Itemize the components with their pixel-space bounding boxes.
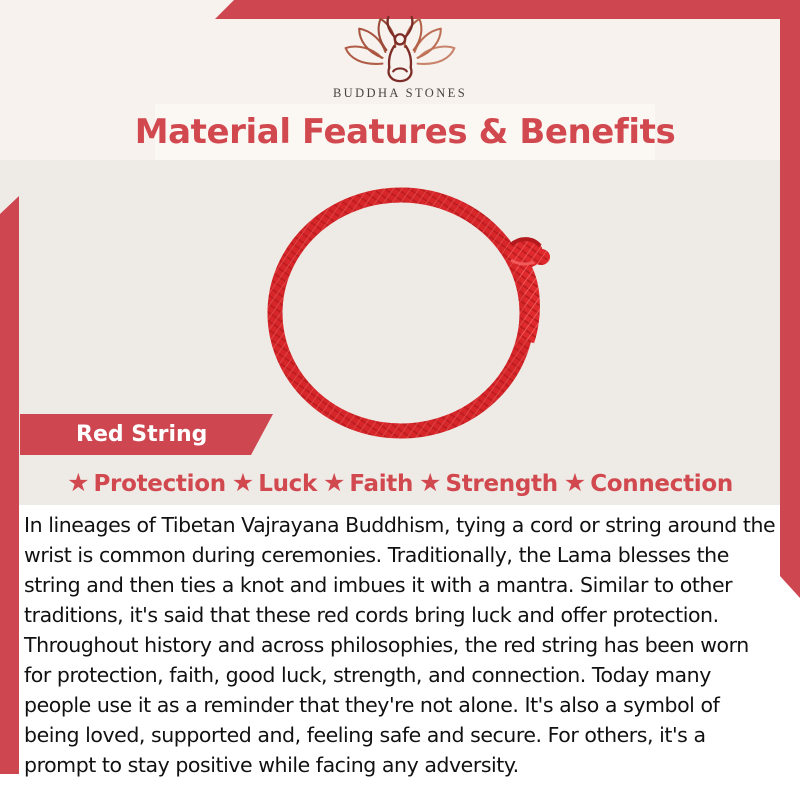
feature-item-protection: ★ Protection	[67, 471, 226, 497]
ribbon-label: Red String	[76, 422, 207, 447]
feature-label-connection: Connection	[590, 471, 733, 497]
feature-label-protection: Protection	[94, 471, 226, 497]
red-string-bracelet-image	[235, 165, 585, 445]
star-icon: ★	[419, 471, 441, 496]
lotus-meditation-figure-icon	[336, 15, 464, 85]
feature-item-connection: ★ Connection	[564, 471, 733, 497]
feature-item-strength: ★ Strength	[419, 471, 558, 497]
brand-header: BUDDHA STONES	[0, 0, 800, 105]
red-string-ribbon: Red String	[20, 414, 273, 455]
page-title-plate: Material Features & Benefits	[155, 104, 655, 160]
description-text: In lineages of Tibetan Vajrayana Buddhis…	[24, 510, 776, 780]
feature-label-faith: Faith	[349, 471, 413, 497]
page-title: Material Features & Benefits	[135, 112, 676, 152]
feature-label-strength: Strength	[445, 471, 557, 497]
feature-item-luck: ★ Luck	[232, 471, 317, 497]
feature-item-faith: ★ Faith	[323, 471, 413, 497]
feature-list: ★ Protection ★ Luck ★ Faith ★ Strength ★…	[0, 464, 800, 504]
feature-label-luck: Luck	[258, 471, 317, 497]
star-icon: ★	[232, 471, 254, 496]
brand-logo: BUDDHA STONES	[333, 15, 467, 105]
star-icon: ★	[323, 471, 345, 496]
star-icon: ★	[67, 471, 89, 496]
infographic-page: BUDDHA STONES Material Features & Benefi…	[0, 0, 800, 800]
brand-wordmark: BUDDHA STONES	[333, 86, 467, 101]
star-icon: ★	[564, 471, 586, 496]
